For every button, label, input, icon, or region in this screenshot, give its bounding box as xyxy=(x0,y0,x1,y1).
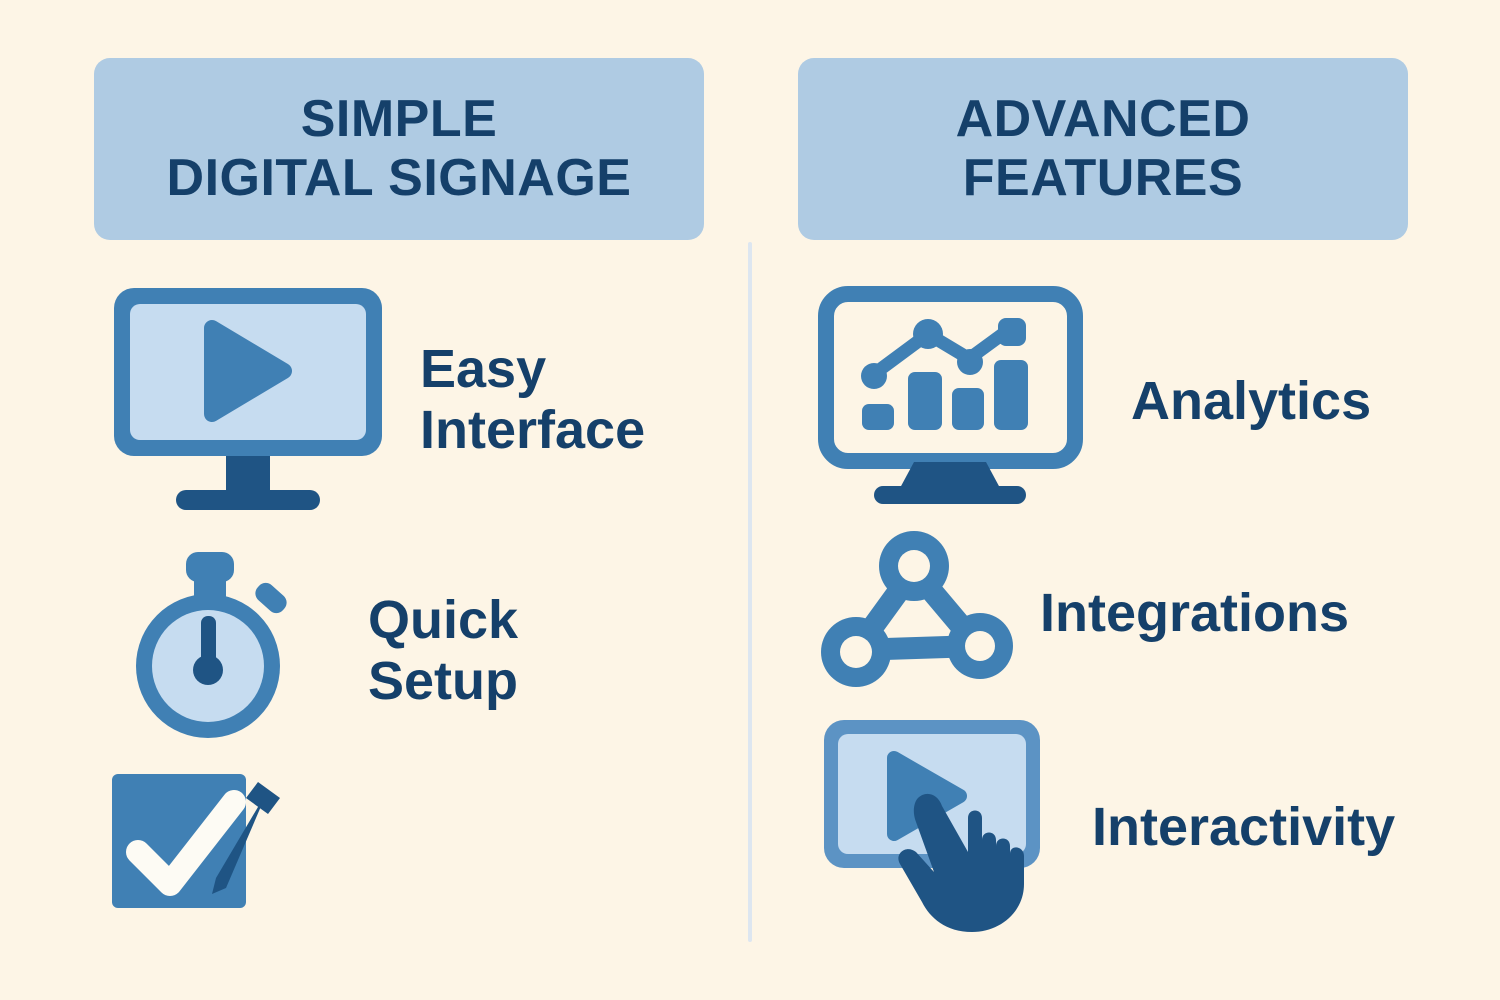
header-pill-advanced-features: ADVANCED FEATURES xyxy=(798,58,1408,240)
feature-row-checkbox xyxy=(108,766,728,941)
feature-label-analytics: Analytics xyxy=(1131,371,1371,431)
feature-label-interactivity: Interactivity xyxy=(1092,797,1395,857)
header-pill-simple-digital-signage: SIMPLE DIGITAL SIGNAGE xyxy=(94,58,704,240)
feature-row-easy-interface: Easy Interface xyxy=(108,282,728,517)
header-title-advanced-features: ADVANCED FEATURES xyxy=(956,90,1251,209)
network-nodes-icon xyxy=(818,528,1018,698)
column-divider xyxy=(748,242,752,942)
feature-row-quick-setup: Quick Setup xyxy=(108,548,728,753)
touch-screen-hand-icon xyxy=(818,712,1068,942)
feature-row-analytics: Analytics xyxy=(818,286,1478,516)
column-simple-digital-signage: SIMPLE DIGITAL SIGNAGE Easy Interface xyxy=(0,0,720,1000)
monitor-play-icon xyxy=(108,282,388,517)
feature-label-easy-interface: Easy Interface xyxy=(420,339,645,460)
feature-label-quick-setup: Quick Setup xyxy=(368,590,518,711)
feature-row-interactivity: Interactivity xyxy=(818,712,1478,942)
feature-row-integrations: Integrations xyxy=(818,528,1478,698)
analytics-monitor-icon xyxy=(818,286,1083,516)
infographic-canvas: SIMPLE DIGITAL SIGNAGE Easy Interface xyxy=(0,0,1500,1000)
feature-label-integrations: Integrations xyxy=(1040,583,1349,643)
column-advanced-features: ADVANCED FEATURES xyxy=(760,0,1480,1000)
stopwatch-icon xyxy=(108,548,308,753)
checkbox-pen-icon xyxy=(108,766,318,941)
header-title-simple-digital-signage: SIMPLE DIGITAL SIGNAGE xyxy=(167,90,632,209)
